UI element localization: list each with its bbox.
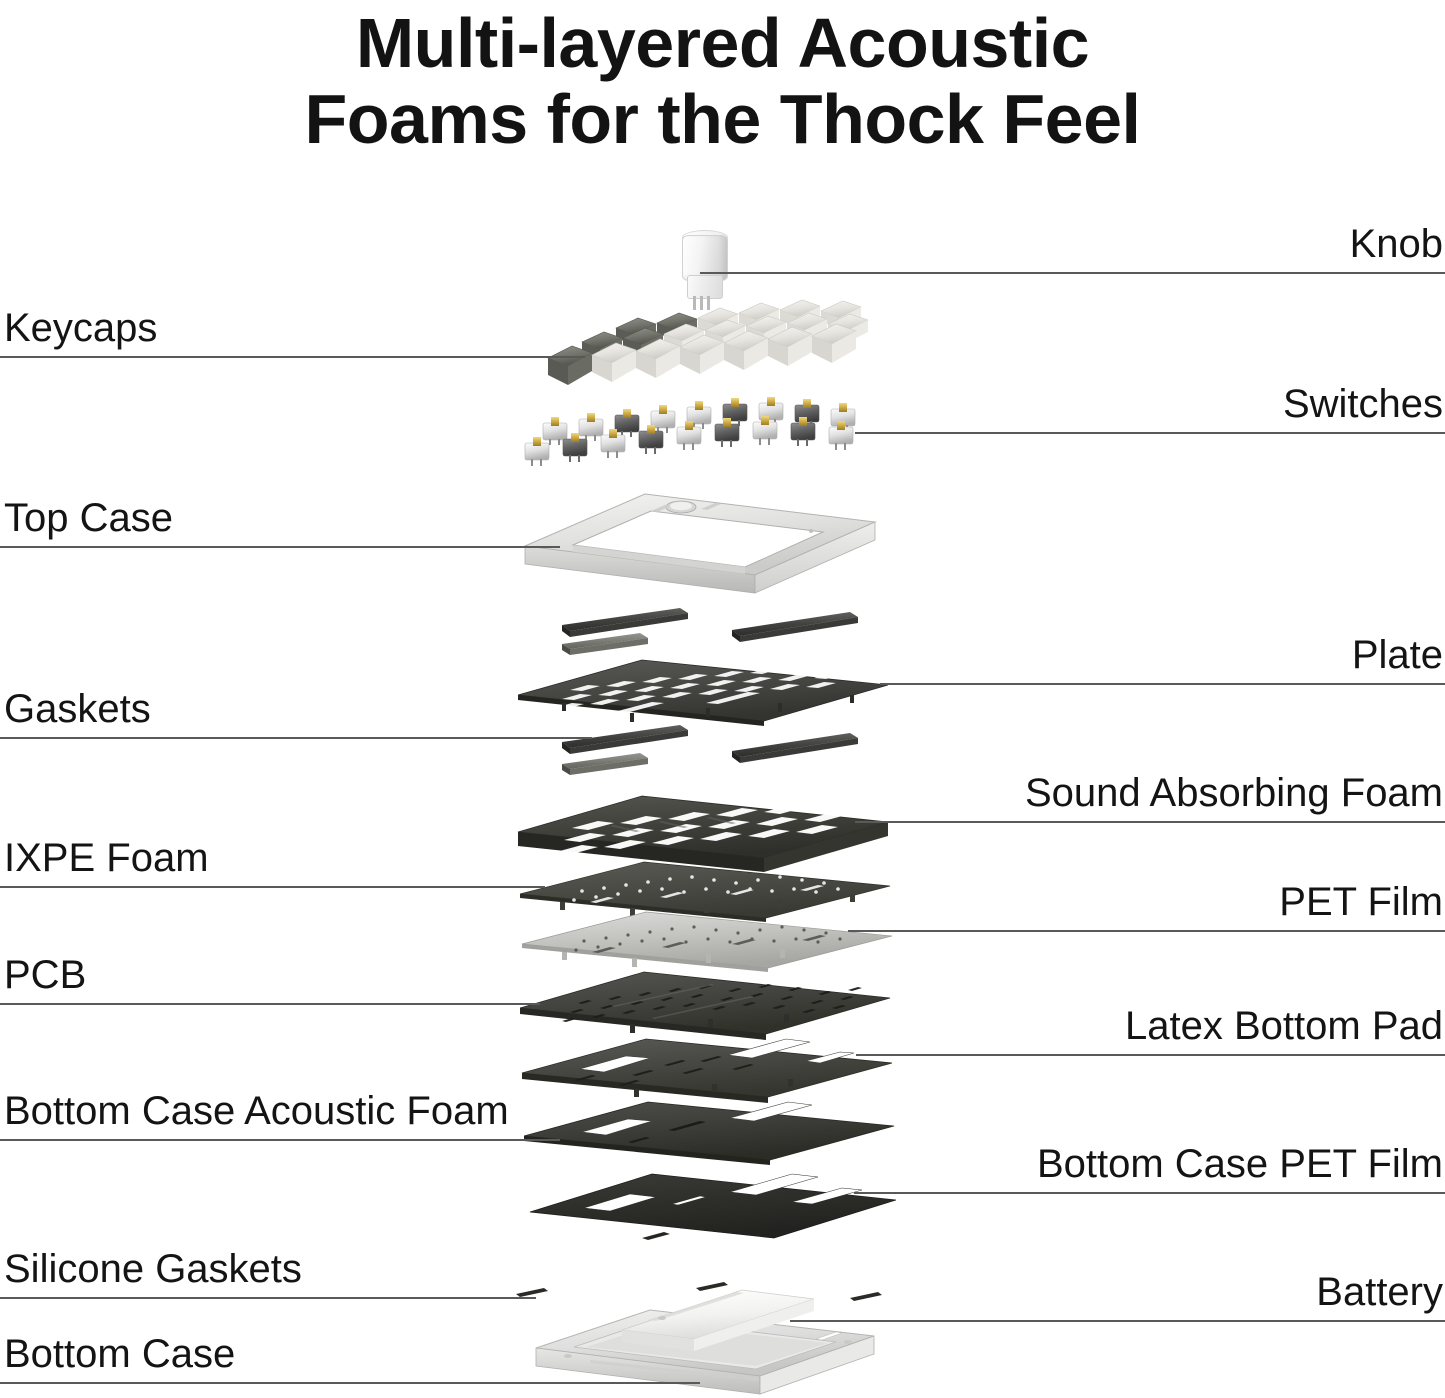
callout-label-silicone-gaskets: Silicone Gaskets [4,1249,302,1289]
switch-set-part [515,395,885,475]
callout-keycaps: Keycaps [0,300,600,358]
callout-label-gaskets: Gaskets [4,689,151,729]
callout-label-switches: Switches [1283,384,1443,424]
callout-rule-latex-bottom-pad [856,1054,1445,1056]
callout-rule-knob [700,272,1445,274]
callout-rule-gaskets [0,737,592,739]
callout-rule-sound-absorbing-foam [855,821,1445,823]
callout-label-bottom-case-pet-film: Bottom Case PET Film [1037,1144,1443,1184]
callout-label-keycaps: Keycaps [4,308,157,348]
callout-rule-top-case [0,546,560,548]
callout-rule-silicone-gaskets [0,1297,536,1299]
callout-rule-pet-film [848,930,1445,932]
callout-label-latex-bottom-pad: Latex Bottom Pad [1125,1006,1443,1046]
callout-rule-bottom-case-pet-film [854,1192,1445,1194]
callout-bottom-case-pet-film: Bottom Case PET Film [854,1136,1445,1194]
callout-rule-switches [855,432,1445,434]
callout-rule-ixpe-foam [0,886,545,888]
callout-rule-plate [880,683,1445,685]
callout-label-top-case: Top Case [4,498,173,538]
switch-field [515,395,885,475]
callout-label-bottom-case-acoustic-foam: Bottom Case Acoustic Foam [4,1091,509,1131]
callout-label-ixpe-foam: IXPE Foam [4,838,209,878]
callout-label-pet-film: PET Film [1279,882,1443,922]
callout-rule-keycaps [0,356,585,358]
callout-sound-absorbing-foam: Sound Absorbing Foam [855,765,1445,823]
callout-knob: Knob [700,216,1445,274]
callout-top-case: Top Case [0,490,600,548]
callout-bottom-case: Bottom Case [0,1326,720,1384]
callout-ixpe-foam: IXPE Foam [0,830,620,888]
callout-latex-bottom-pad: Latex Bottom Pad [856,998,1445,1056]
callout-label-plate: Plate [1352,635,1443,675]
callout-label-sound-absorbing-foam: Sound Absorbing Foam [1025,773,1443,813]
callout-battery: Battery [790,1264,1445,1322]
callout-label-knob: Knob [1350,224,1443,264]
callout-label-battery: Battery [1316,1272,1443,1312]
callout-switches: Switches [855,376,1445,434]
callout-gaskets: Gaskets [0,681,620,739]
callout-pet-film: PET Film [848,874,1445,932]
callout-silicone-gaskets: Silicone Gaskets [0,1241,620,1299]
callout-label-bottom-case: Bottom Case [4,1334,235,1374]
callout-rule-battery [790,1320,1445,1322]
callout-rule-bottom-case [0,1382,700,1384]
exploded-view-diagram: Multi-layered Acoustic Foams for the Tho… [0,0,1445,1398]
callout-label-pcb: PCB [4,955,86,995]
callout-rule-bottom-case-acoustic-foam [0,1139,560,1141]
callout-pcb: PCB [0,947,620,1005]
callout-rule-pcb [0,1003,540,1005]
callout-plate: Plate [880,627,1445,685]
callout-bottom-case-acoustic-foam: Bottom Case Acoustic Foam [0,1083,700,1141]
